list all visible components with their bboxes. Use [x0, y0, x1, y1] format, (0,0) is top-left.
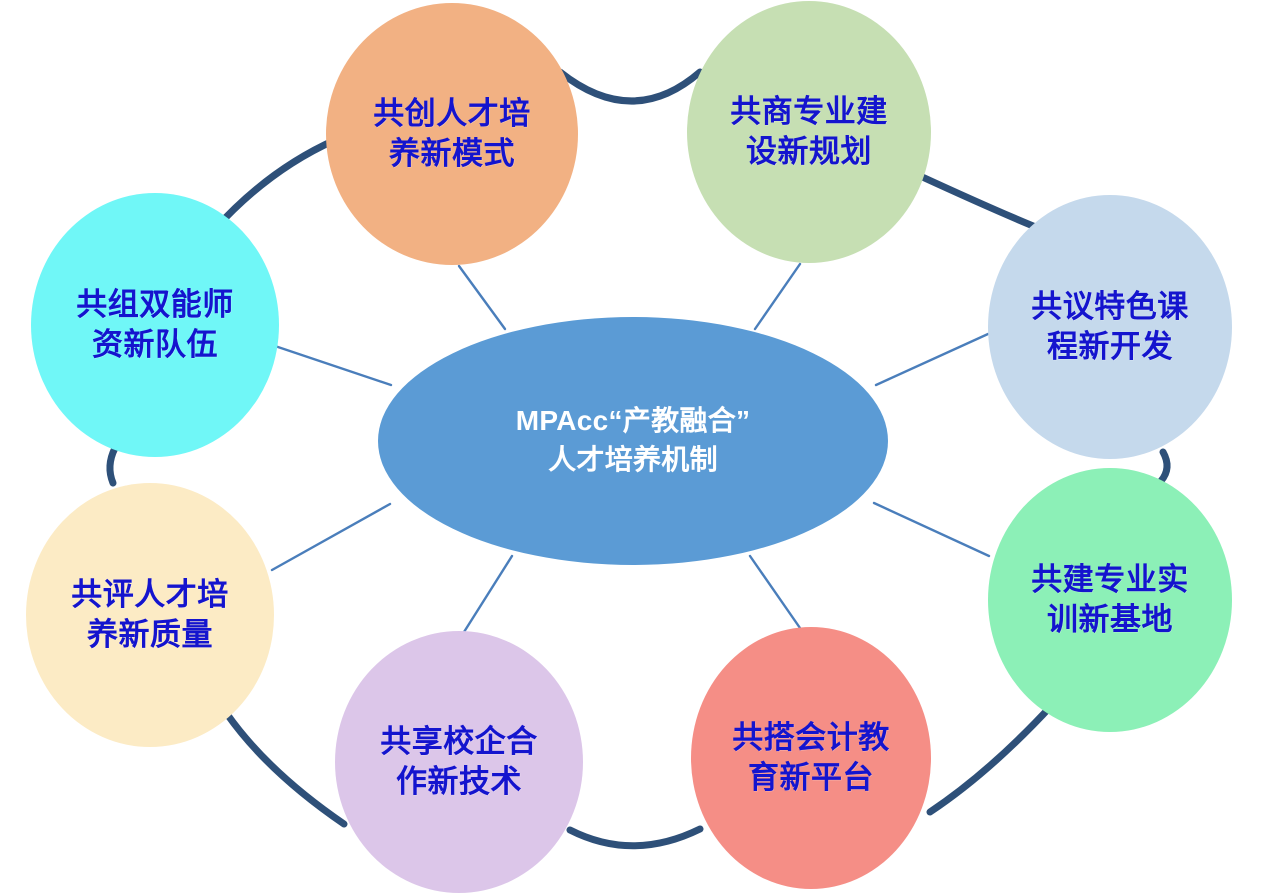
satellite-node-right-upper[interactable]: 共议特色课 程新开发 — [988, 195, 1232, 459]
arc-node4-node5 — [930, 705, 1052, 812]
spoke-center-node1 — [459, 266, 505, 329]
satellite-node-label: 共享校企合 作新技术 — [380, 722, 538, 801]
spoke-center-node7 — [272, 504, 390, 570]
diagram-canvas: MPAcc“产教融合” 人才培养机制 共创人才培 养新模式 共商专业建 设新规划… — [0, 0, 1269, 894]
arc-node1-node2 — [560, 72, 700, 101]
arc-node2-node3 — [918, 175, 1048, 232]
spoke-center-node5 — [750, 556, 800, 628]
satellite-node-label: 共商专业建 设新规划 — [730, 92, 888, 171]
satellite-node-label: 共评人才培 养新质量 — [71, 575, 229, 654]
spoke-center-node3 — [876, 334, 988, 385]
satellite-node-label: 共搭会计教 育新平台 — [732, 718, 890, 797]
arc-node5-node6 — [570, 829, 700, 846]
satellite-node-bottom-left[interactable]: 共享校企合 作新技术 — [335, 631, 583, 893]
arc-node8-node1 — [214, 140, 335, 230]
satellite-node-right-lower[interactable]: 共建专业实 训新基地 — [988, 468, 1232, 732]
satellite-node-left-upper[interactable]: 共组双能师 资新队伍 — [31, 193, 279, 457]
satellite-node-label: 共议特色课 程新开发 — [1031, 287, 1189, 366]
satellite-node-label: 共建专业实 训新基地 — [1031, 560, 1189, 639]
center-node-label: MPAcc“产教融合” 人才培养机制 — [516, 402, 751, 479]
spoke-center-node6 — [464, 556, 512, 632]
arc-node3-node4 — [1161, 452, 1167, 481]
center-node[interactable]: MPAcc“产教融合” 人才培养机制 — [378, 317, 888, 565]
satellite-node-top-right[interactable]: 共商专业建 设新规划 — [687, 1, 931, 263]
satellite-node-label: 共创人才培 养新模式 — [373, 94, 531, 173]
spoke-center-node4 — [874, 503, 989, 556]
satellite-node-top-left[interactable]: 共创人才培 养新模式 — [326, 3, 578, 265]
satellite-node-left-lower[interactable]: 共评人才培 养新质量 — [26, 483, 274, 747]
satellite-node-bottom-right[interactable]: 共搭会计教 育新平台 — [691, 627, 931, 889]
arc-node6-node7 — [227, 714, 344, 824]
arc-node7-node8 — [110, 448, 115, 483]
satellite-node-label: 共组双能师 资新队伍 — [76, 285, 234, 364]
spoke-center-node2 — [755, 264, 800, 329]
spoke-center-node8 — [272, 345, 391, 385]
